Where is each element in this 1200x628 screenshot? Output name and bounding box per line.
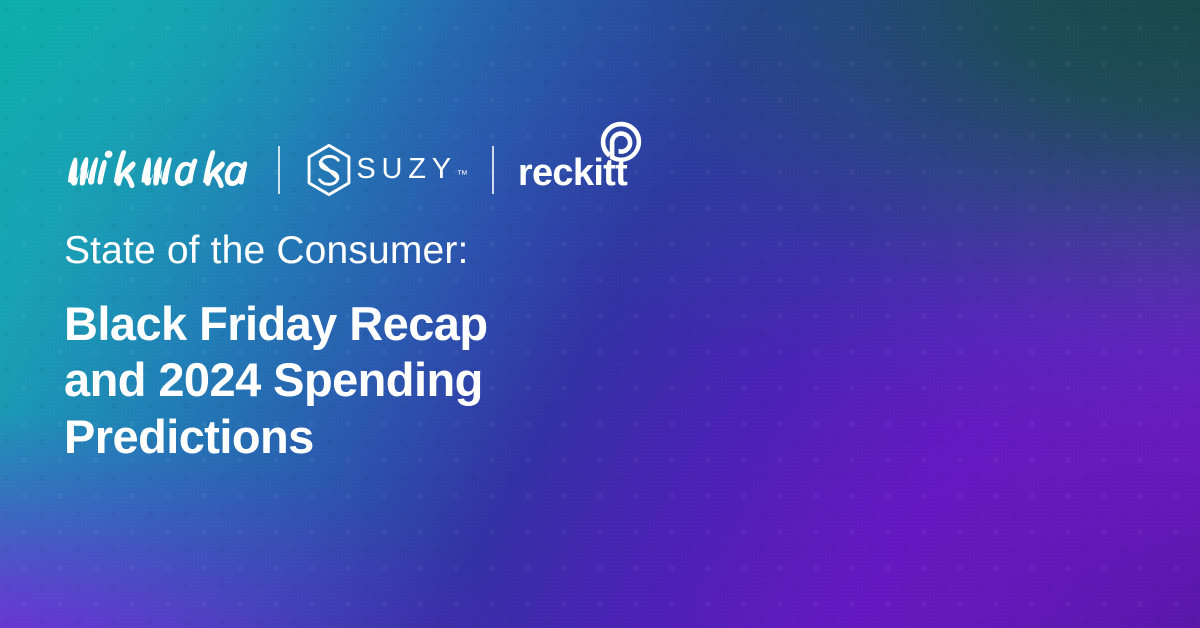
eyebrow-text: State of the Consumer: (64, 228, 468, 274)
suzy-trademark: ™ (457, 169, 468, 181)
promo-banner: SUZY™ reckitt State of the Consumer: Bla… (0, 0, 1200, 628)
suzy-hexagon-icon (304, 143, 354, 197)
logo-reckitt: reckitt (518, 148, 627, 192)
suzy-wordmark: SUZY™ (356, 155, 468, 185)
headline: Black Friday Recap and 2024 Spending Pre… (64, 296, 624, 465)
logo-divider-2 (492, 146, 494, 194)
logo-mikmak (64, 149, 254, 191)
reckitt-spiral-icon (599, 120, 643, 164)
headline-line-1: Black Friday Recap (64, 296, 624, 352)
headline-line-3: Predictions (64, 409, 624, 465)
banner-content: SUZY™ reckitt State of the Consumer: Bla… (64, 0, 704, 628)
logo-divider-1 (278, 146, 280, 194)
logo-suzy: SUZY™ (304, 143, 468, 197)
partner-logo-row: SUZY™ reckitt (64, 136, 627, 204)
headline-line-2: and 2024 Spending (64, 352, 624, 408)
